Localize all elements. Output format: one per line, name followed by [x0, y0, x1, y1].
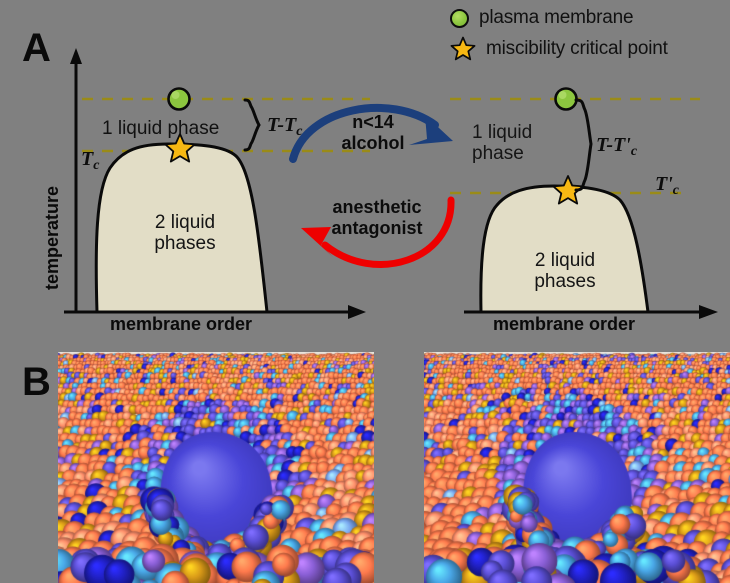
right-phase-diagram: 1 liquid phase T-T'c T'c 2 liquid phases… — [450, 40, 730, 330]
left-label-two-liquid-phases: 2 liquid phases — [126, 212, 244, 255]
left-y-axis-label: temperature — [42, 186, 63, 290]
right-x-axis-label: membrane order — [493, 314, 635, 335]
right-label-one-liquid-phase: 1 liquid phase — [472, 122, 582, 165]
left-brace-t-minus-tc — [245, 100, 259, 150]
right-plasma-membrane-marker — [556, 89, 577, 110]
right-one-phase-line1: 1 liquid — [472, 122, 582, 143]
right-two-phases-line1: 2 liquid — [506, 250, 624, 271]
left-two-phases-line1: 2 liquid — [126, 212, 244, 233]
left-label-tc: Tc — [81, 148, 99, 174]
left-plasma-membrane-marker — [169, 89, 190, 110]
reverse-arrow-label-line1: anesthetic — [317, 197, 437, 218]
forward-arrow-label-line1: n<14 — [313, 112, 433, 133]
forward-arrow-label: n<14 alcohol — [313, 112, 433, 153]
right-two-phases-line2: phases — [506, 271, 624, 292]
reverse-arrow-label-line2: antagonist — [317, 218, 437, 239]
transition-arrows: n<14 alcohol anesthetic antagonist — [285, 85, 465, 295]
forward-arrow-label-line2: alcohol — [313, 133, 433, 154]
right-coexistence-dome — [481, 186, 648, 312]
panel-letter-b: B — [22, 362, 51, 402]
simulation-image-left — [58, 352, 374, 583]
simulation-image-right — [424, 352, 730, 583]
left-label-one-liquid-phase: 1 liquid phase — [102, 118, 219, 140]
right-one-phase-line2: phase — [472, 143, 582, 164]
right-label-t-minus-tc-prime: T-T'c — [596, 134, 637, 160]
legend-item-plasma-membrane: plasma membrane — [450, 7, 668, 29]
right-label-two-liquid-phases: 2 liquid phases — [506, 250, 624, 293]
green-circle-icon — [450, 9, 469, 28]
reverse-arrow-label: anesthetic antagonist — [317, 197, 437, 238]
right-label-tc-prime: T'c — [655, 173, 679, 199]
left-x-axis-label: membrane order — [110, 314, 252, 335]
figure-root: plasma membrane miscibility critical poi… — [0, 0, 730, 583]
left-two-phases-line2: phases — [126, 233, 244, 254]
legend-label-plasma-membrane: plasma membrane — [479, 7, 633, 29]
left-y-axis — [70, 48, 82, 312]
